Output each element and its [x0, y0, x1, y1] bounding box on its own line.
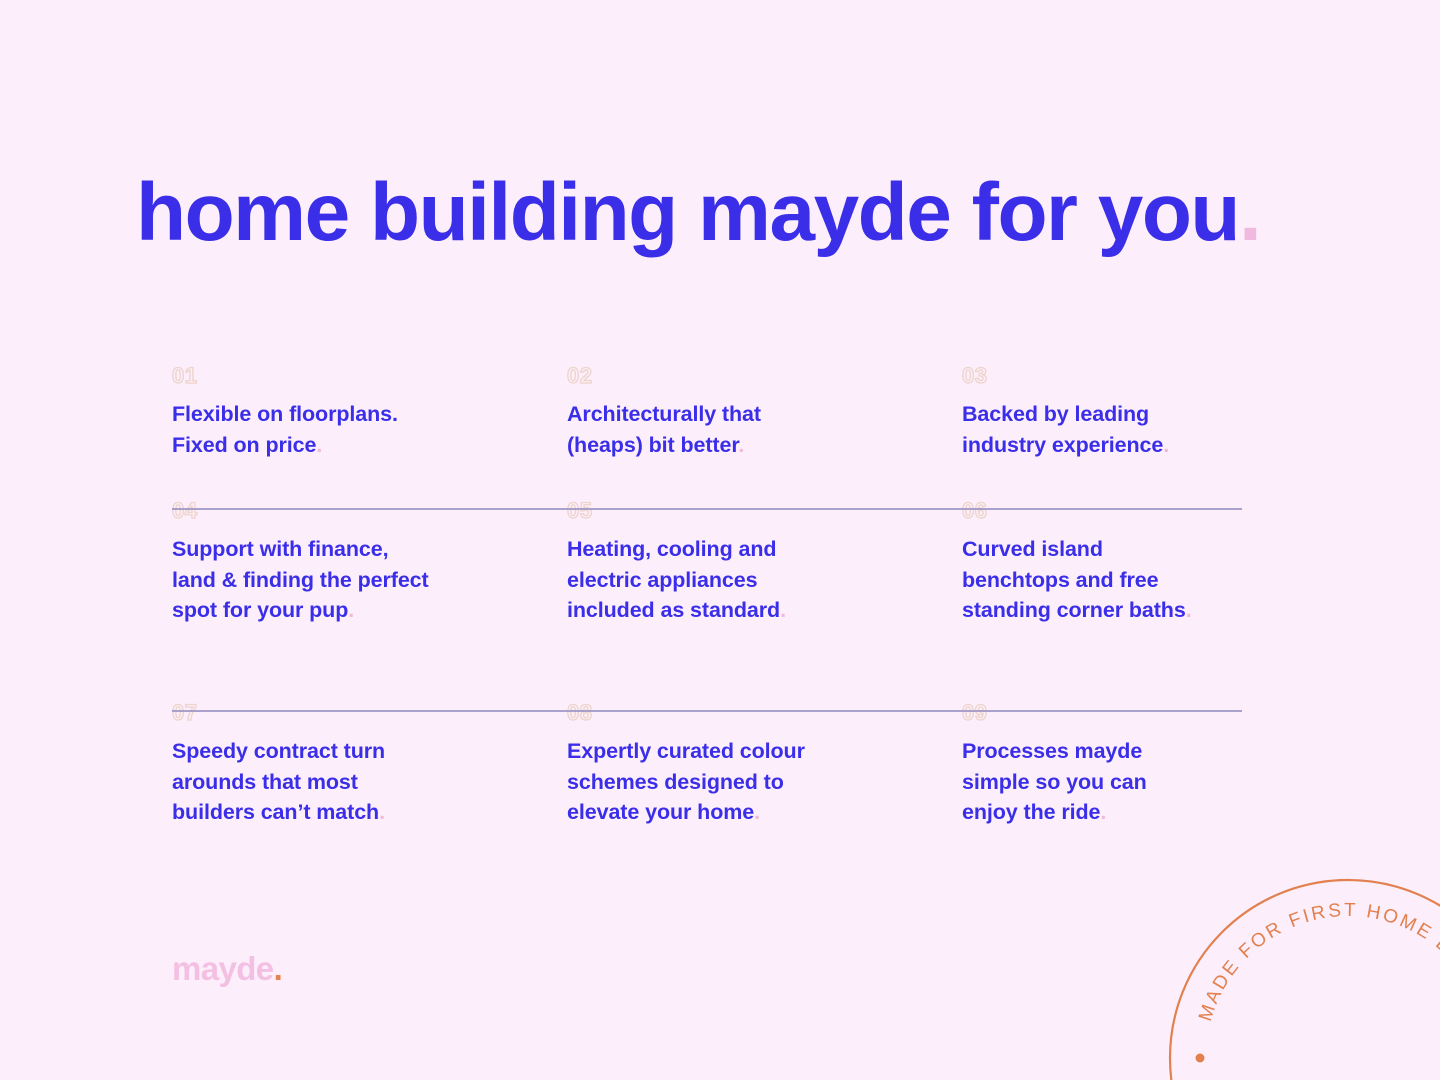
- stamp-text-top: MADE FOR FIRST HOME BUYERS: [1195, 900, 1440, 1024]
- page-title-text: home building mayde for you: [136, 167, 1239, 258]
- feature-line-text: spot for your pup: [172, 598, 348, 622]
- feature-line: schemes designed to: [567, 767, 962, 798]
- feature-line: Curved island: [962, 534, 1244, 565]
- feature-line-text: Fixed on price: [172, 433, 316, 457]
- feature-line: elevate your home.: [567, 797, 962, 828]
- feature-line-text: enjoy the ride: [962, 800, 1100, 824]
- feature-period: .: [379, 800, 385, 824]
- feature-text: Architecturally that (heaps) bit better.: [567, 399, 962, 460]
- feature-number: 08: [567, 702, 962, 724]
- feature-number: 04: [172, 500, 567, 522]
- feature-number: 06: [962, 500, 1244, 522]
- feature-line-text: elevate your home: [567, 800, 754, 824]
- feature-text: Heating, cooling and electric appliances…: [567, 534, 962, 626]
- feature-item-04: 04 Support with finance, land & finding …: [172, 500, 567, 626]
- feature-line: arounds that most: [172, 767, 567, 798]
- page-title-period: .: [1239, 167, 1260, 258]
- feature-text: Flexible on floorplans. Fixed on price.: [172, 399, 567, 460]
- feature-period: .: [316, 433, 322, 457]
- feature-grid: 01 Flexible on floorplans. Fixed on pric…: [172, 365, 1244, 852]
- feature-period: .: [780, 598, 786, 622]
- stamp-separator-dot-left: [1196, 1054, 1205, 1063]
- feature-period: .: [348, 598, 354, 622]
- slide-canvas: home building mayde for you. 01 Flexible…: [0, 0, 1440, 1080]
- feature-line: builders can’t match.: [172, 797, 567, 828]
- feature-line: Speedy contract turn: [172, 736, 567, 767]
- feature-line: simple so you can: [962, 767, 1244, 798]
- feature-text: Curved island benchtops and free standin…: [962, 534, 1244, 626]
- feature-row-3: 07 Speedy contract turn arounds that mos…: [172, 702, 1244, 852]
- brand-logo-period: .: [274, 950, 283, 987]
- feature-line: electric appliances: [567, 565, 962, 596]
- feature-line: Fixed on price.: [172, 430, 567, 461]
- feature-number: 07: [172, 702, 567, 724]
- feature-item-03: 03 Backed by leading industry experience…: [962, 365, 1244, 460]
- feature-text: Expertly curated colour schemes designed…: [567, 736, 962, 828]
- feature-line: spot for your pup.: [172, 595, 567, 626]
- feature-period: .: [1186, 598, 1192, 622]
- feature-line: enjoy the ride.: [962, 797, 1244, 828]
- feature-line: industry experience.: [962, 430, 1244, 461]
- brand-logo: mayde.: [172, 952, 282, 985]
- feature-period: .: [1163, 433, 1169, 457]
- feature-item-06: 06 Curved island benchtops and free stan…: [962, 500, 1244, 626]
- divider-row-2: [172, 710, 1242, 712]
- feature-line: Support with finance,: [172, 534, 567, 565]
- feature-line: Processes mayde: [962, 736, 1244, 767]
- feature-item-07: 07 Speedy contract turn arounds that mos…: [172, 702, 567, 828]
- feature-line: standing corner baths.: [962, 595, 1244, 626]
- feature-number: 05: [567, 500, 962, 522]
- feature-line: Expertly curated colour: [567, 736, 962, 767]
- feature-line: Backed by leading: [962, 399, 1244, 430]
- feature-line-text: industry experience: [962, 433, 1163, 457]
- feature-line-text: included as standard: [567, 598, 780, 622]
- feature-line: Flexible on floorplans.: [172, 399, 567, 430]
- brand-logo-text: mayde: [172, 950, 274, 987]
- feature-item-08: 08 Expertly curated colour schemes desig…: [567, 702, 962, 828]
- feature-period: .: [754, 800, 760, 824]
- feature-text: Backed by leading industry experience.: [962, 399, 1244, 460]
- feature-line-text: builders can’t match: [172, 800, 379, 824]
- feature-line: land & finding the perfect: [172, 565, 567, 596]
- divider-row-1: [172, 508, 1242, 510]
- feature-text: Support with finance, land & finding the…: [172, 534, 567, 626]
- stamp-badge: MADE FOR FIRST HOME BUYERS MADE FOR FIRS…: [1168, 878, 1440, 1080]
- feature-period: .: [738, 433, 744, 457]
- feature-item-01: 01 Flexible on floorplans. Fixed on pric…: [172, 365, 567, 460]
- feature-line-text: standing corner baths: [962, 598, 1186, 622]
- feature-period: .: [1100, 800, 1106, 824]
- feature-line: (heaps) bit better.: [567, 430, 962, 461]
- feature-item-02: 02 Architecturally that (heaps) bit bett…: [567, 365, 962, 460]
- feature-text: Processes mayde simple so you can enjoy …: [962, 736, 1244, 828]
- feature-item-05: 05 Heating, cooling and electric applian…: [567, 500, 962, 626]
- feature-number: 03: [962, 365, 1244, 387]
- feature-line: Heating, cooling and: [567, 534, 962, 565]
- feature-number: 02: [567, 365, 962, 387]
- feature-line: included as standard.: [567, 595, 962, 626]
- feature-row-2: 04 Support with finance, land & finding …: [172, 500, 1244, 702]
- feature-item-09: 09 Processes mayde simple so you can enj…: [962, 702, 1244, 828]
- feature-line-text: (heaps) bit better: [567, 433, 738, 457]
- feature-number: 01: [172, 365, 567, 387]
- feature-line: Architecturally that: [567, 399, 962, 430]
- feature-text: Speedy contract turn arounds that most b…: [172, 736, 567, 828]
- page-title: home building mayde for you.: [136, 172, 1260, 254]
- feature-number: 09: [962, 702, 1244, 724]
- feature-line: benchtops and free: [962, 565, 1244, 596]
- feature-row-1: 01 Flexible on floorplans. Fixed on pric…: [172, 365, 1244, 500]
